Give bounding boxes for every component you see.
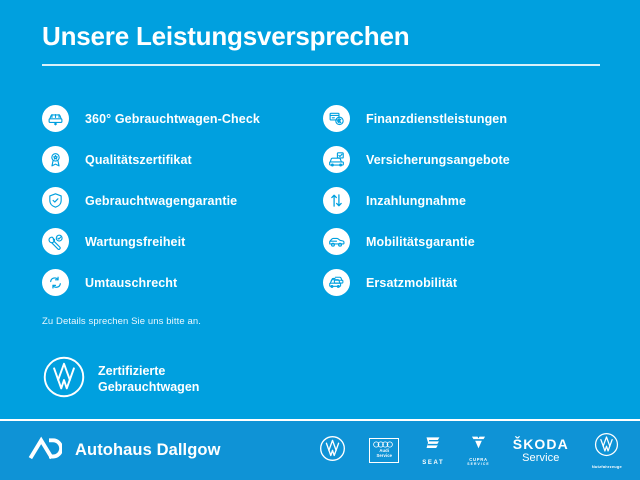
brand-logo-audi-service[interactable]: Audi Service — [369, 438, 399, 463]
header: Unsere Leistungsversprechen — [42, 22, 602, 66]
vw-roundel-icon — [594, 432, 619, 462]
seat-s-icon — [424, 435, 442, 458]
award-medal-icon — [42, 146, 69, 173]
vw-roundel-icon — [319, 435, 346, 467]
benefit-label: Umtauschrecht — [85, 276, 177, 290]
benefit-label: Mobilitätsgarantie — [366, 235, 475, 249]
vw-roundel-icon — [42, 355, 86, 404]
money-euro-icon — [323, 105, 350, 132]
brand-logo-vw[interactable] — [319, 435, 346, 467]
ad-monogram-icon — [28, 435, 62, 466]
arrows-up-down-icon — [323, 187, 350, 214]
skoda-wordmark: ŠKODA — [513, 437, 569, 451]
footer-bar: Autohaus Dallgow — [0, 421, 640, 480]
vw-certified-line2: Gebrauchtwagen — [98, 380, 199, 394]
benefits-left-column: 360° Gebrauchtwagen-Check Qualitätszerti… — [42, 98, 323, 303]
cupra-emblem-icon — [470, 435, 487, 455]
benefit-label: 360° Gebrauchtwagen-Check — [85, 112, 260, 126]
benefit-item[interactable]: 360° Gebrauchtwagen-Check — [42, 98, 323, 139]
vw-certified-line1: Zertifizierte — [98, 364, 165, 378]
dealer-identity[interactable]: Autohaus Dallgow — [28, 435, 221, 466]
benefit-label: Ersatzmobilität — [366, 276, 457, 290]
brand-logo-seat[interactable]: SEAT — [422, 435, 444, 466]
benefit-item[interactable]: Finanzdienstleistungen — [323, 98, 604, 139]
benefit-item[interactable]: Inzahlungnahme — [323, 180, 604, 221]
benefit-label: Inzahlungnahme — [366, 194, 466, 208]
benefit-label: Wartungsfreiheit — [85, 235, 185, 249]
shield-check-icon — [42, 187, 69, 214]
benefit-label: Gebrauchtwagengarantie — [85, 194, 237, 208]
contact-note: Zu Details sprechen Sie uns bitte an. — [42, 316, 201, 327]
brand-logo-cupra-service[interactable]: CUPRA SERVICE — [467, 435, 490, 466]
cupra-caption: CUPRA SERVICE — [467, 457, 490, 466]
audi-caption: Audi Service — [376, 449, 392, 459]
benefit-item[interactable]: Mobilitätsgarantie — [323, 221, 604, 262]
car-check-icon — [42, 105, 69, 132]
benefit-label: Qualitätszertifikat — [85, 153, 192, 167]
seat-caption: SEAT — [422, 460, 444, 466]
wrench-check-icon — [42, 228, 69, 255]
benefit-item[interactable]: Versicherungsangebote — [323, 139, 604, 180]
benefit-item[interactable]: Ersatzmobilität — [323, 262, 604, 303]
benefit-label: Finanzdienstleistungen — [366, 112, 507, 126]
brand-logo-strip: Audi Service SEAT — [319, 432, 622, 469]
car-insurance-icon — [323, 146, 350, 173]
dealer-name: Autohaus Dallgow — [75, 441, 221, 460]
skoda-service-caption: Service — [522, 452, 559, 464]
two-cars-icon — [323, 269, 350, 296]
audi-caption-line2: Service — [376, 453, 392, 458]
nutzfahrzeuge-caption: Nutzfahrzeuge — [592, 464, 622, 469]
title-divider — [42, 64, 600, 66]
benefit-item[interactable]: Gebrauchtwagengarantie — [42, 180, 323, 221]
benefits-grid: 360° Gebrauchtwagen-Check Qualitätszerti… — [42, 98, 604, 303]
page-title: Unsere Leistungsversprechen — [42, 22, 602, 51]
benefit-item[interactable]: Qualitätszertifikat — [42, 139, 323, 180]
promo-banner: Unsere Leistungsversprechen 360° Gebrauc… — [0, 0, 640, 480]
exchange-arrows-icon — [42, 269, 69, 296]
benefit-label: Versicherungsangebote — [366, 153, 510, 167]
cupra-caption-sub: SERVICE — [467, 462, 490, 466]
brand-logo-skoda-service[interactable]: ŠKODA Service — [513, 437, 569, 464]
benefit-item[interactable]: Umtauschrecht — [42, 262, 323, 303]
vw-certified-block: Zertifizierte Gebrauchtwagen — [42, 355, 199, 404]
brand-logo-vw-nutzfahrzeuge[interactable]: Nutzfahrzeuge — [592, 432, 622, 469]
car-side-icon — [323, 228, 350, 255]
audi-rings-icon: Audi Service — [369, 438, 399, 463]
benefit-item[interactable]: Wartungsfreiheit — [42, 221, 323, 262]
benefits-right-column: Finanzdienstleistungen Versicherungsange… — [323, 98, 604, 303]
vw-certified-text: Zertifizierte Gebrauchtwagen — [98, 364, 199, 395]
